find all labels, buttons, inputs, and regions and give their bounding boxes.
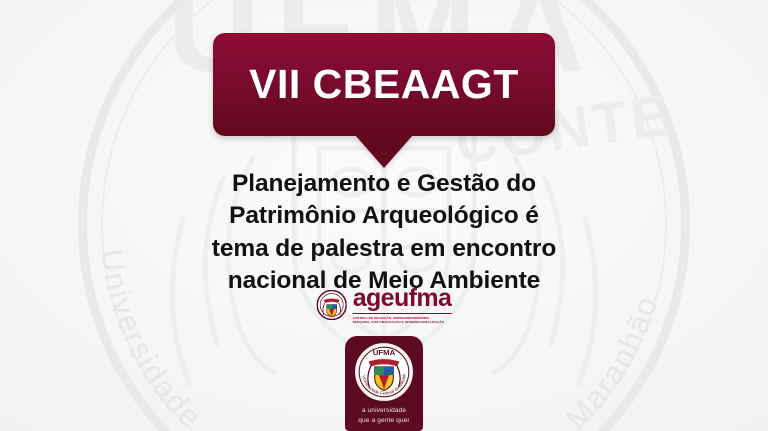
ageufma-divider bbox=[353, 313, 452, 314]
ufma-tagline-line-2: que a gente quer bbox=[358, 416, 409, 426]
speech-bubble-tail-icon bbox=[355, 135, 413, 168]
ufma-badge: UFMA Universidade Federal do Maranhão bbox=[345, 336, 423, 431]
ageufma-wordmark: ageufma bbox=[353, 286, 452, 311]
speech-bubble-body: VII CBEAAGT bbox=[213, 33, 555, 136]
speech-bubble: VII CBEAAGT bbox=[213, 33, 555, 136]
ufma-seal-top-label: UFMA bbox=[373, 348, 396, 357]
headline-line-1: Planejamento e Gestão do bbox=[0, 168, 768, 200]
headline-line-2: Patrimônio Arqueológico é bbox=[0, 200, 768, 232]
ageufma-text-lockup: ageufma AGÊNCIA DE INOVAÇÃO, EMPREENDEDO… bbox=[353, 286, 452, 324]
watermark-circle-text-right-label: Maranhão bbox=[559, 291, 665, 431]
ufma-seal-icon: UFMA Universidade Federal do Maranhão bbox=[353, 341, 415, 403]
poster-canvas: UFMA Universidade Maranhão bbox=[0, 0, 768, 431]
headline-line-3: tema de palestra em encontro bbox=[0, 233, 768, 265]
ageufma-logo: ageufma AGÊNCIA DE INOVAÇÃO, EMPREENDEDO… bbox=[317, 286, 452, 324]
event-title: VII CBEAAGT bbox=[249, 64, 519, 105]
ufma-tagline: a universidade que a gente quer bbox=[358, 406, 409, 425]
ufma-tagline-line-1: a universidade bbox=[358, 406, 409, 416]
page-title: Planejamento e Gestão do Patrimônio Arqu… bbox=[0, 168, 768, 297]
ageufma-crest-icon bbox=[317, 290, 347, 320]
ageufma-subtitle-line-2: PESQUISA, PÓS-GRADUAÇÃO E INTERNACIONALI… bbox=[353, 320, 452, 324]
